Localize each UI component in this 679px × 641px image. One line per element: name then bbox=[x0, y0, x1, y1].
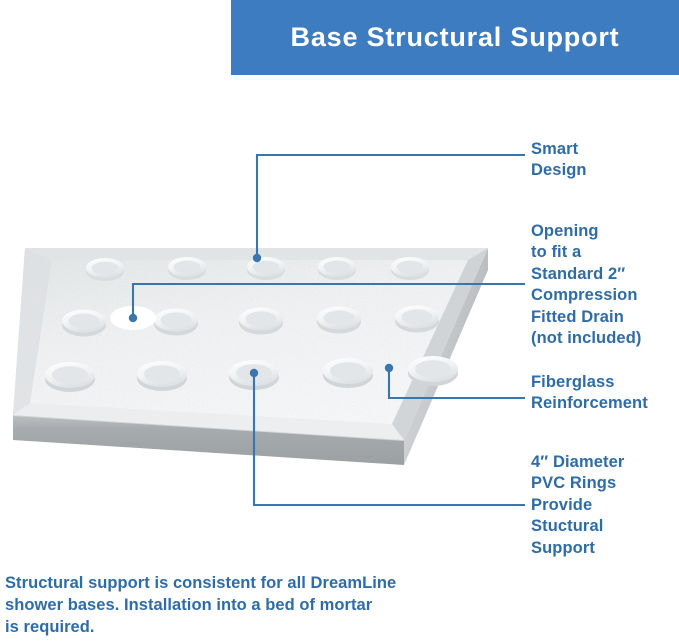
leader-dot-smart-design bbox=[253, 254, 261, 262]
leader-line-drain-opening bbox=[133, 284, 525, 318]
leader-dot-drain-opening bbox=[129, 314, 137, 322]
leader-line-fiberglass bbox=[389, 368, 525, 398]
callout-pvc-rings: 4″ Diameter PVC Rings Provide Stuctural … bbox=[531, 452, 624, 559]
bottom-caption: Structural support is consistent for all… bbox=[5, 573, 455, 638]
leader-line-smart-design bbox=[257, 155, 525, 258]
callout-smart-design: Smart Design bbox=[531, 139, 587, 182]
leader-dot-pvc-rings bbox=[250, 369, 258, 377]
callout-fiberglass-reinforcement: Fiberglass Reinforcement bbox=[531, 372, 648, 415]
callout-drain-opening: Opening to fit a Standard 2″ Compression… bbox=[531, 221, 641, 350]
leader-dot-fiberglass bbox=[385, 364, 393, 372]
